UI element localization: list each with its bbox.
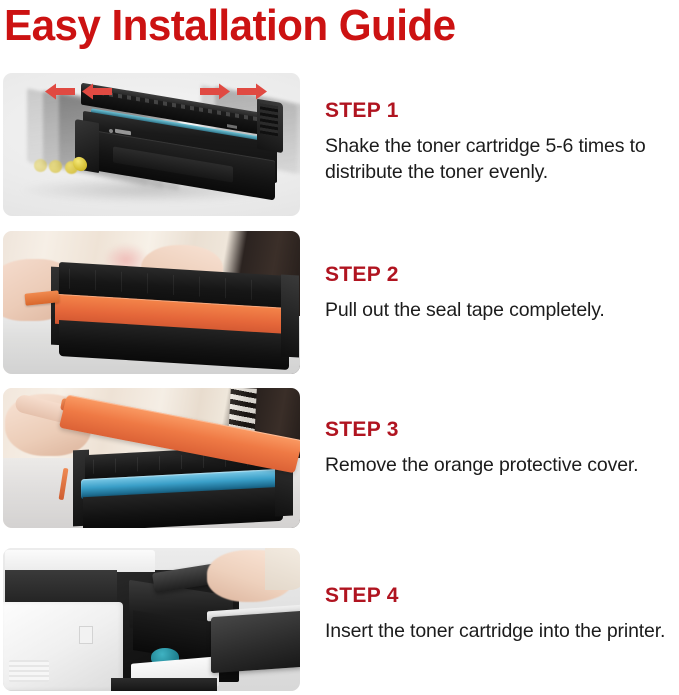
cartridge-label-dot bbox=[109, 129, 113, 134]
pulling-seal-tape-photo bbox=[3, 231, 300, 374]
inserting-cartridge-into-printer-photo bbox=[3, 548, 300, 691]
arrow-left-outer-icon bbox=[45, 83, 75, 100]
step-description: Remove the orange protective cover. bbox=[325, 452, 677, 478]
step-description: Pull out the seal tape completely. bbox=[325, 297, 677, 323]
step-label: STEP 2 bbox=[325, 263, 399, 287]
step-row: STEP 3 Remove the orange protective cove… bbox=[0, 388, 679, 528]
printer-top-cover bbox=[5, 550, 155, 572]
step-row: STEP 4 Insert the toner cartridge into t… bbox=[0, 548, 679, 691]
step-text-block: STEP 4 Insert the toner cartridge into t… bbox=[325, 548, 677, 691]
step-label: STEP 1 bbox=[325, 99, 399, 123]
page-title: Easy Installation Guide bbox=[4, 0, 618, 54]
gear-cap bbox=[49, 160, 62, 173]
arrow-right-outer-icon bbox=[237, 83, 267, 100]
step-label: STEP 4 bbox=[325, 584, 399, 608]
cartridge-right-end-cap bbox=[281, 274, 299, 357]
step-text-block: STEP 1 Shake the toner cartridge 5-6 tim… bbox=[325, 73, 677, 216]
printer-lower-dark-panel bbox=[111, 678, 217, 691]
cartridge-right-end-cap bbox=[257, 99, 283, 153]
step-text-block: STEP 2 Pull out the seal tape completely… bbox=[325, 231, 677, 374]
arrow-right-inner-icon bbox=[200, 83, 230, 100]
step-row: STEP 2 Pull out the seal tape completely… bbox=[0, 231, 679, 374]
printer-vent bbox=[9, 660, 49, 682]
sleeve bbox=[265, 548, 300, 590]
step-description: Insert the toner cartridge into the prin… bbox=[325, 618, 677, 644]
step-row: STEP 1 Shake the toner cartridge 5-6 tim… bbox=[0, 73, 679, 216]
removing-orange-cover-photo bbox=[3, 388, 300, 528]
printer-front-tray bbox=[211, 611, 300, 673]
toner-cartridge bbox=[75, 99, 280, 191]
step-label: STEP 3 bbox=[325, 418, 399, 442]
toner-cartridge-shaking-photo bbox=[3, 73, 300, 216]
step-description: Shake the toner cartridge 5-6 times to d… bbox=[325, 133, 677, 185]
printer-dark-top-panel bbox=[5, 570, 117, 604]
gear-cap bbox=[34, 159, 47, 172]
arrow-left-inner-icon bbox=[82, 83, 112, 100]
step-text-block: STEP 3 Remove the orange protective cove… bbox=[325, 388, 677, 528]
